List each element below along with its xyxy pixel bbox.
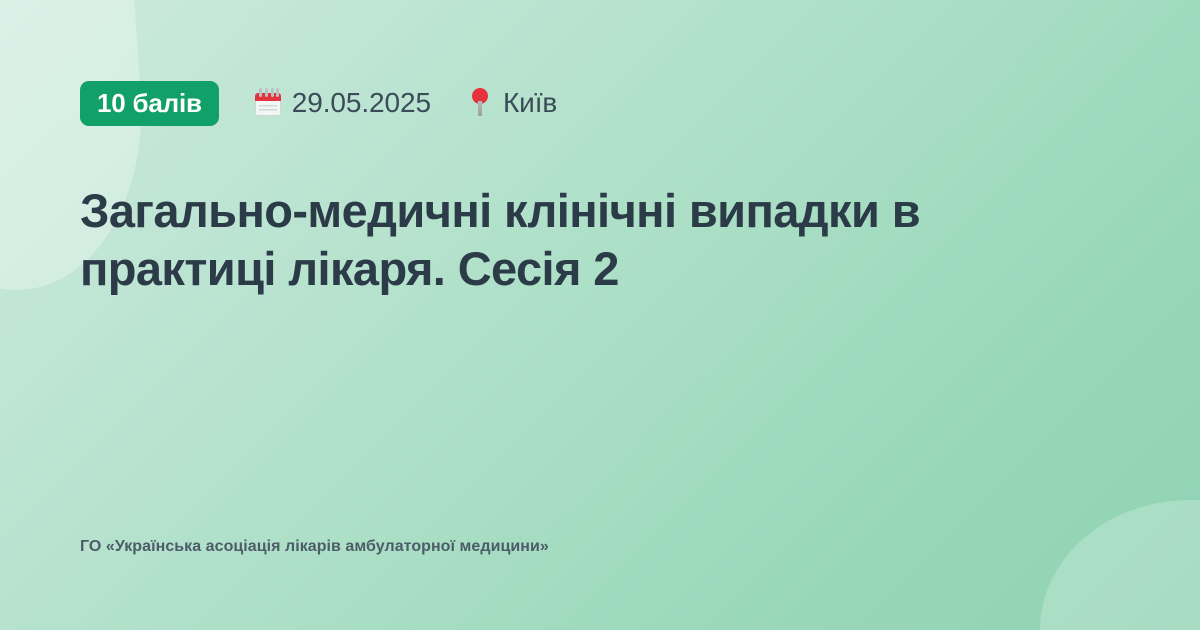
event-title: Загально-медичні клінічні випадки в прак… — [80, 126, 1110, 298]
date-item: 29.05.2025 — [255, 89, 431, 117]
event-location: Київ — [503, 89, 557, 117]
card-content: 10 балів 29.05.2025 Київ — [0, 0, 1200, 630]
meta-row: 10 балів 29.05.2025 Київ — [80, 80, 1120, 126]
event-card: 10 балів 29.05.2025 Київ — [0, 0, 1200, 630]
points-badge: 10 балів — [80, 81, 219, 126]
event-date: 29.05.2025 — [292, 89, 431, 117]
calendar-icon — [255, 88, 281, 116]
map-pin-icon — [469, 87, 491, 117]
location-item: Київ — [469, 89, 557, 117]
